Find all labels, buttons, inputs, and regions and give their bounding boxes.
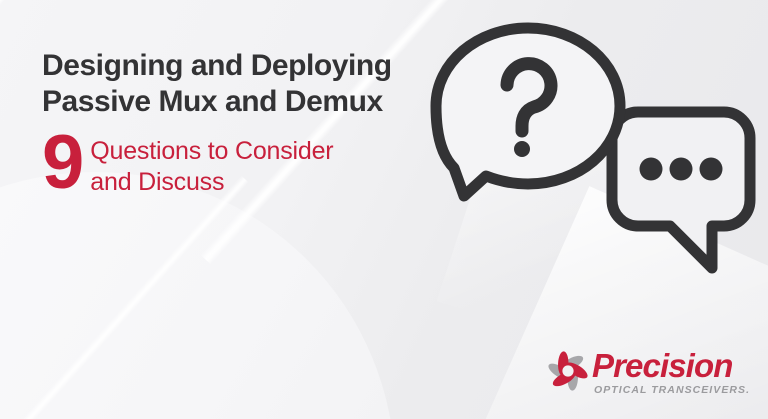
headline-block: Designing and Deploying Passive Mux and …: [42, 48, 442, 198]
brand-logotype: Precision OPTICAL TRANSCEIVERS.: [592, 349, 750, 396]
background-streak-center: [0, 176, 249, 419]
ellipsis-dot-2: [670, 158, 693, 181]
speech-bubbles-illustration: [424, 18, 768, 290]
question-mark-dot: [514, 141, 530, 157]
brand-logo: Precision OPTICAL TRANSCEIVERS.: [548, 349, 754, 397]
subheadline-lines: Questions to Consider and Discuss: [90, 126, 333, 198]
speech-bubbles-svg: [424, 18, 768, 290]
headline-line-1: Designing and Deploying: [42, 48, 442, 84]
brand-name: Precision: [592, 349, 750, 383]
ellipsis-speech-bubble-icon: [612, 112, 750, 268]
ellipsis-dot-3: [700, 158, 723, 181]
subheadline-block: 9 Questions to Consider and Discuss: [42, 126, 442, 198]
promo-banner: Designing and Deploying Passive Mux and …: [0, 0, 768, 419]
subheadline-line-2: and Discuss: [90, 167, 333, 198]
background-circle-shape: [0, 172, 395, 419]
page-title: Designing and Deploying Passive Mux and …: [42, 48, 442, 120]
subheadline-line-1: Questions to Consider: [90, 136, 333, 167]
headline-line-2: Passive Mux and Demux: [42, 84, 442, 120]
precision-swirl-icon: [548, 351, 588, 396]
ellipsis-dot-1: [640, 158, 663, 181]
question-count-number: 9: [42, 130, 82, 196]
brand-tagline: OPTICAL TRANSCEIVERS.: [594, 384, 750, 396]
question-speech-bubble-icon: [436, 28, 620, 196]
precision-swirl-svg: [548, 351, 588, 391]
